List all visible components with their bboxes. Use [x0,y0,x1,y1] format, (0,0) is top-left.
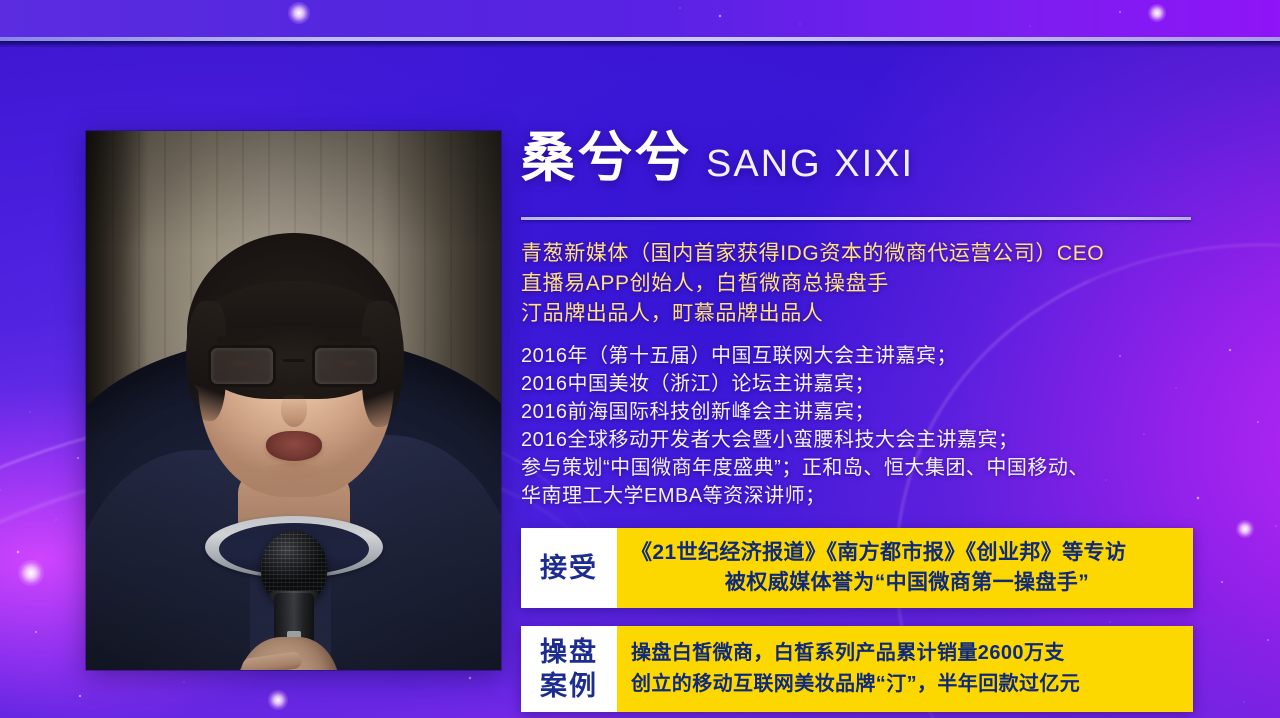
speaker-name-english: SANG XIXI [706,145,914,183]
credential-line-5: 参与策划“中国微商年度盛典”；正和岛、恒大集团、中国移动、 [521,454,1193,482]
speaker-photo [86,131,501,670]
callout-interview-line-1: 《21世纪经济报道》《南方都市报》《创业邦》等专访 [631,538,1183,568]
name-divider-rule [521,217,1191,220]
highlight-line-3: 汀品牌出品人，町慕品牌出品人 [521,299,1193,329]
callout-interview-tag: 接受 [521,528,617,608]
highlight-line-1: 青葱新媒体（国内首家获得IDG资本的微商代运营公司）CEO [521,239,1193,269]
callout-case-study-tag-line-2: 案例 [540,669,598,703]
callout-interview: 接受 《21世纪经济报道》《南方都市报》《创业邦》等专访 被权威媒体誉为“中国微… [521,528,1193,608]
credential-line-2: 2016中国美妆（浙江）论坛主讲嘉宾； [521,370,1193,398]
credential-line-6: 华南理工大学EMBA等资深讲师； [521,482,1193,510]
top-divider-shadow [0,41,1280,48]
credential-block: 2016年（第十五届）中国互联网大会主讲嘉宾； 2016中国美妆（浙江）论坛主讲… [521,342,1193,510]
speaker-name-row: 桑兮兮 SANG XIXI [521,131,1193,205]
callout-interview-line-2: 被权威媒体誉为“中国微商第一操盘手” [631,568,1183,598]
credential-line-4: 2016全球移动开发者大会暨小蛮腰科技大会主讲嘉宾； [521,426,1193,454]
credential-line-3: 2016前海国际科技创新峰会主讲嘉宾； [521,398,1193,426]
speaker-info-panel: 桑兮兮 SANG XIXI 青葱新媒体（国内首家获得IDG资本的微商代运营公司）… [521,131,1193,712]
photo-bottom-shadow [86,131,501,670]
callout-case-study: 操盘 案例 操盘白皙微商，白皙系列产品累计销量2600万支 创立的移动互联网美妆… [521,626,1193,712]
callout-case-study-tag: 操盘 案例 [521,626,617,712]
speaker-name-chinese: 桑兮兮 [521,131,692,185]
callout-case-study-line-1: 操盘白皙微商，白皙系列产品累计销量2600万支 [631,638,1183,669]
callout-case-study-body: 操盘白皙微商，白皙系列产品累计销量2600万支 创立的移动互联网美妆品牌“汀”，… [617,626,1193,712]
highlight-title-block: 青葱新媒体（国内首家获得IDG资本的微商代运营公司）CEO 直播易APP创始人，… [521,239,1193,329]
credential-line-1: 2016年（第十五届）中国互联网大会主讲嘉宾； [521,342,1193,370]
highlight-line-2: 直播易APP创始人，白皙微商总操盘手 [521,269,1193,299]
callout-case-study-tag-line-1: 操盘 [540,635,598,669]
presentation-slide: 桑兮兮 SANG XIXI 青葱新媒体（国内首家获得IDG资本的微商代运营公司）… [0,0,1280,718]
callout-case-study-line-2: 创立的移动互联网美妆品牌“汀”，半年回款过亿元 [631,669,1183,700]
top-band [0,0,1280,38]
callout-interview-body: 《21世纪经济报道》《南方都市报》《创业邦》等专访 被权威媒体誉为“中国微商第一… [617,528,1193,608]
